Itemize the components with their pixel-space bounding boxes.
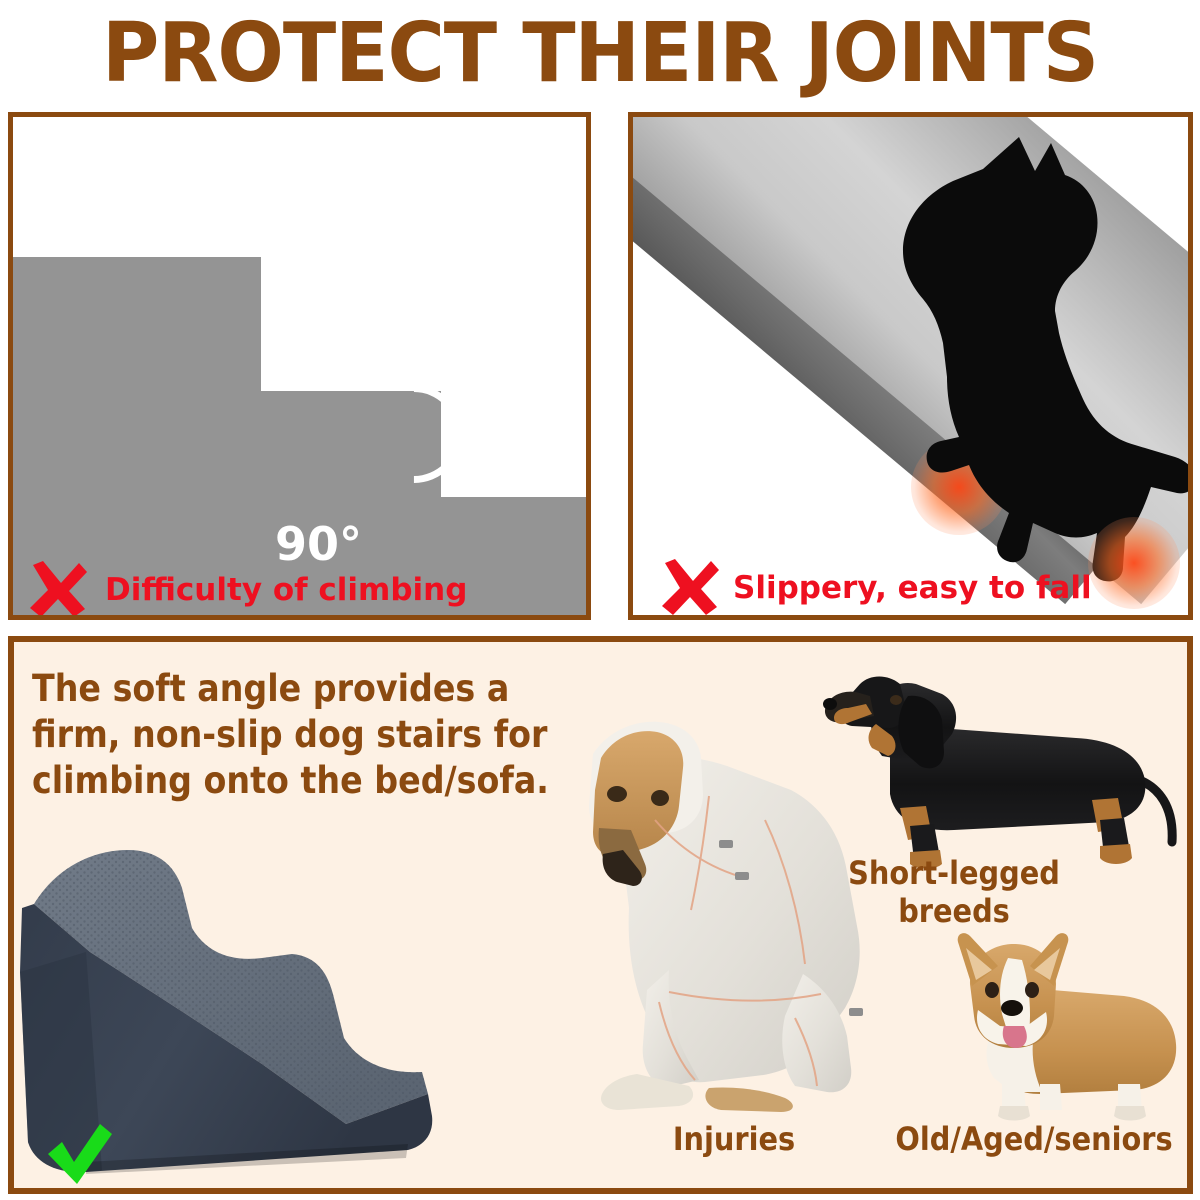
photo-corgi: [904, 932, 1193, 1122]
red-x-icon: [27, 559, 89, 619]
caption-slippery-easy-to-fall: Slippery, easy to fall: [733, 570, 1092, 606]
ramp-illustration: [633, 117, 1188, 615]
red-x-icon: [659, 557, 721, 617]
panel-difficulty-climbing: 90° Difficulty of climbing: [8, 112, 591, 620]
green-check-icon: [44, 1122, 114, 1186]
label-short-legged-breeds: Short-legged breeds: [804, 854, 1104, 930]
stairs-illustration: 90°: [13, 117, 586, 615]
panel-slippery-ramp: Slippery, easy to fall: [628, 112, 1193, 620]
infographic-page: PROTECT THEIR JOINTS 90° Difficulty of c…: [0, 0, 1200, 1200]
page-title: PROTECT THEIR JOINTS: [0, 4, 1200, 104]
panel-solution: The soft angle provides a firm, non-slip…: [8, 636, 1193, 1194]
solution-headline: The soft angle provides a firm, non-slip…: [32, 666, 592, 804]
label-old-aged-seniors: Old/Aged/seniors: [864, 1120, 1193, 1158]
caption-difficulty-climbing: Difficulty of climbing: [105, 572, 467, 608]
angle-label: 90°: [275, 517, 362, 571]
label-injuries: Injuries: [614, 1120, 854, 1158]
joint-pain-glow-rear: [1088, 517, 1180, 609]
photo-dachshund: [804, 660, 1193, 870]
